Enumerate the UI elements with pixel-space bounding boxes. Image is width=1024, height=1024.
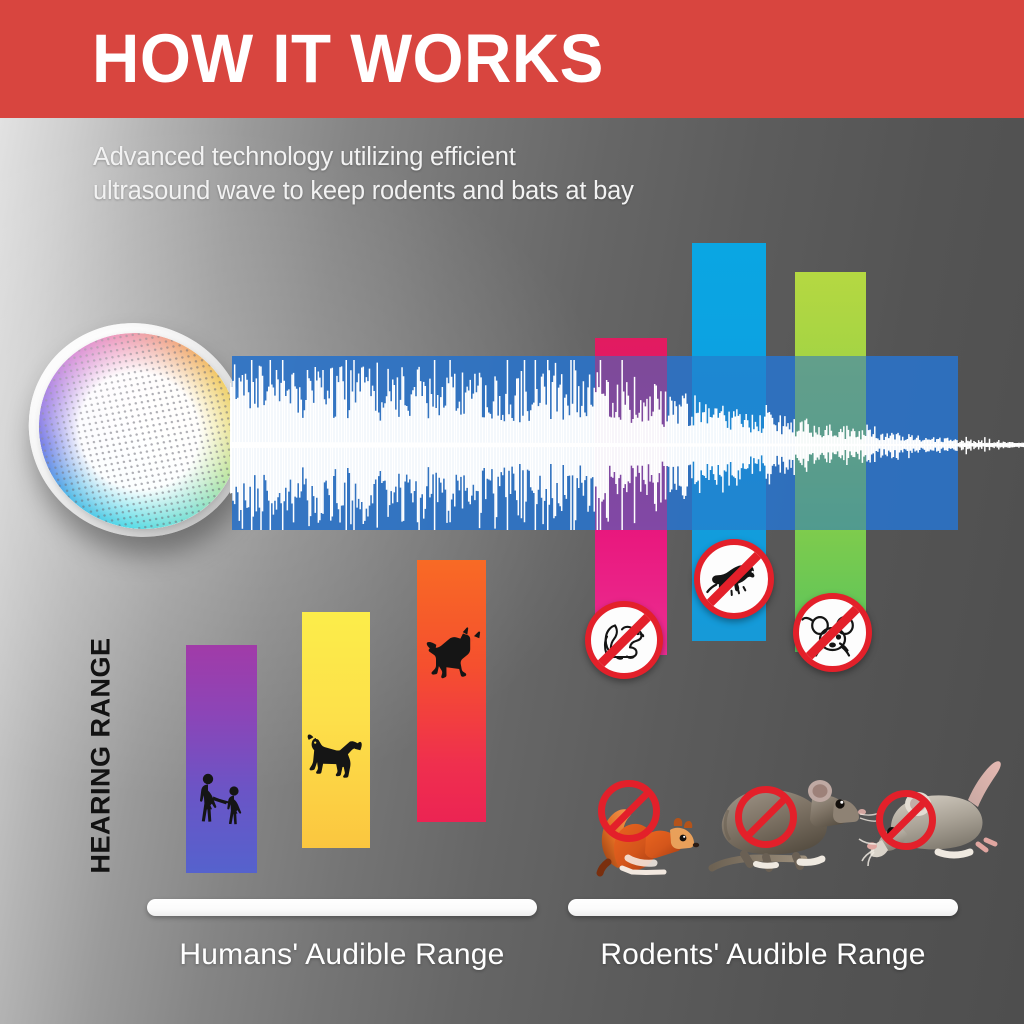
speaker-grille [19, 317, 259, 544]
no-rat-icon [694, 539, 774, 619]
bar-dog [302, 612, 370, 848]
speaker-mesh-pattern [19, 317, 259, 544]
bar-human [186, 645, 257, 873]
squirrel-prohibition-icon [598, 780, 660, 842]
subtitle-text: Advanced technology utilizing efficient … [93, 140, 634, 208]
no-squirrel-icon [585, 601, 663, 679]
hearing-range-axis-label: HEARING RANGE [86, 606, 117, 906]
dog-silhouette [306, 724, 368, 786]
cat-silhouette [420, 625, 484, 687]
mouse-prohibition-icon [876, 790, 936, 850]
header-banner: HOW IT WORKS [0, 0, 1024, 118]
human-family-silhouette [194, 771, 250, 855]
infographic-canvas: HOW IT WORKS Advanced technology utilizi… [0, 0, 1024, 1024]
bar-cat [417, 560, 486, 822]
page-title: HOW IT WORKS [92, 19, 604, 98]
audio-waveform [230, 360, 1024, 530]
range-label-humans: Humans' Audible Range [147, 938, 537, 972]
no-mouse-icon [793, 593, 872, 672]
range-bar-rodents [568, 899, 958, 916]
range-label-rodents: Rodents' Audible Range [568, 938, 958, 972]
rat-prohibition-icon [735, 786, 797, 848]
range-bar-humans [147, 899, 537, 916]
